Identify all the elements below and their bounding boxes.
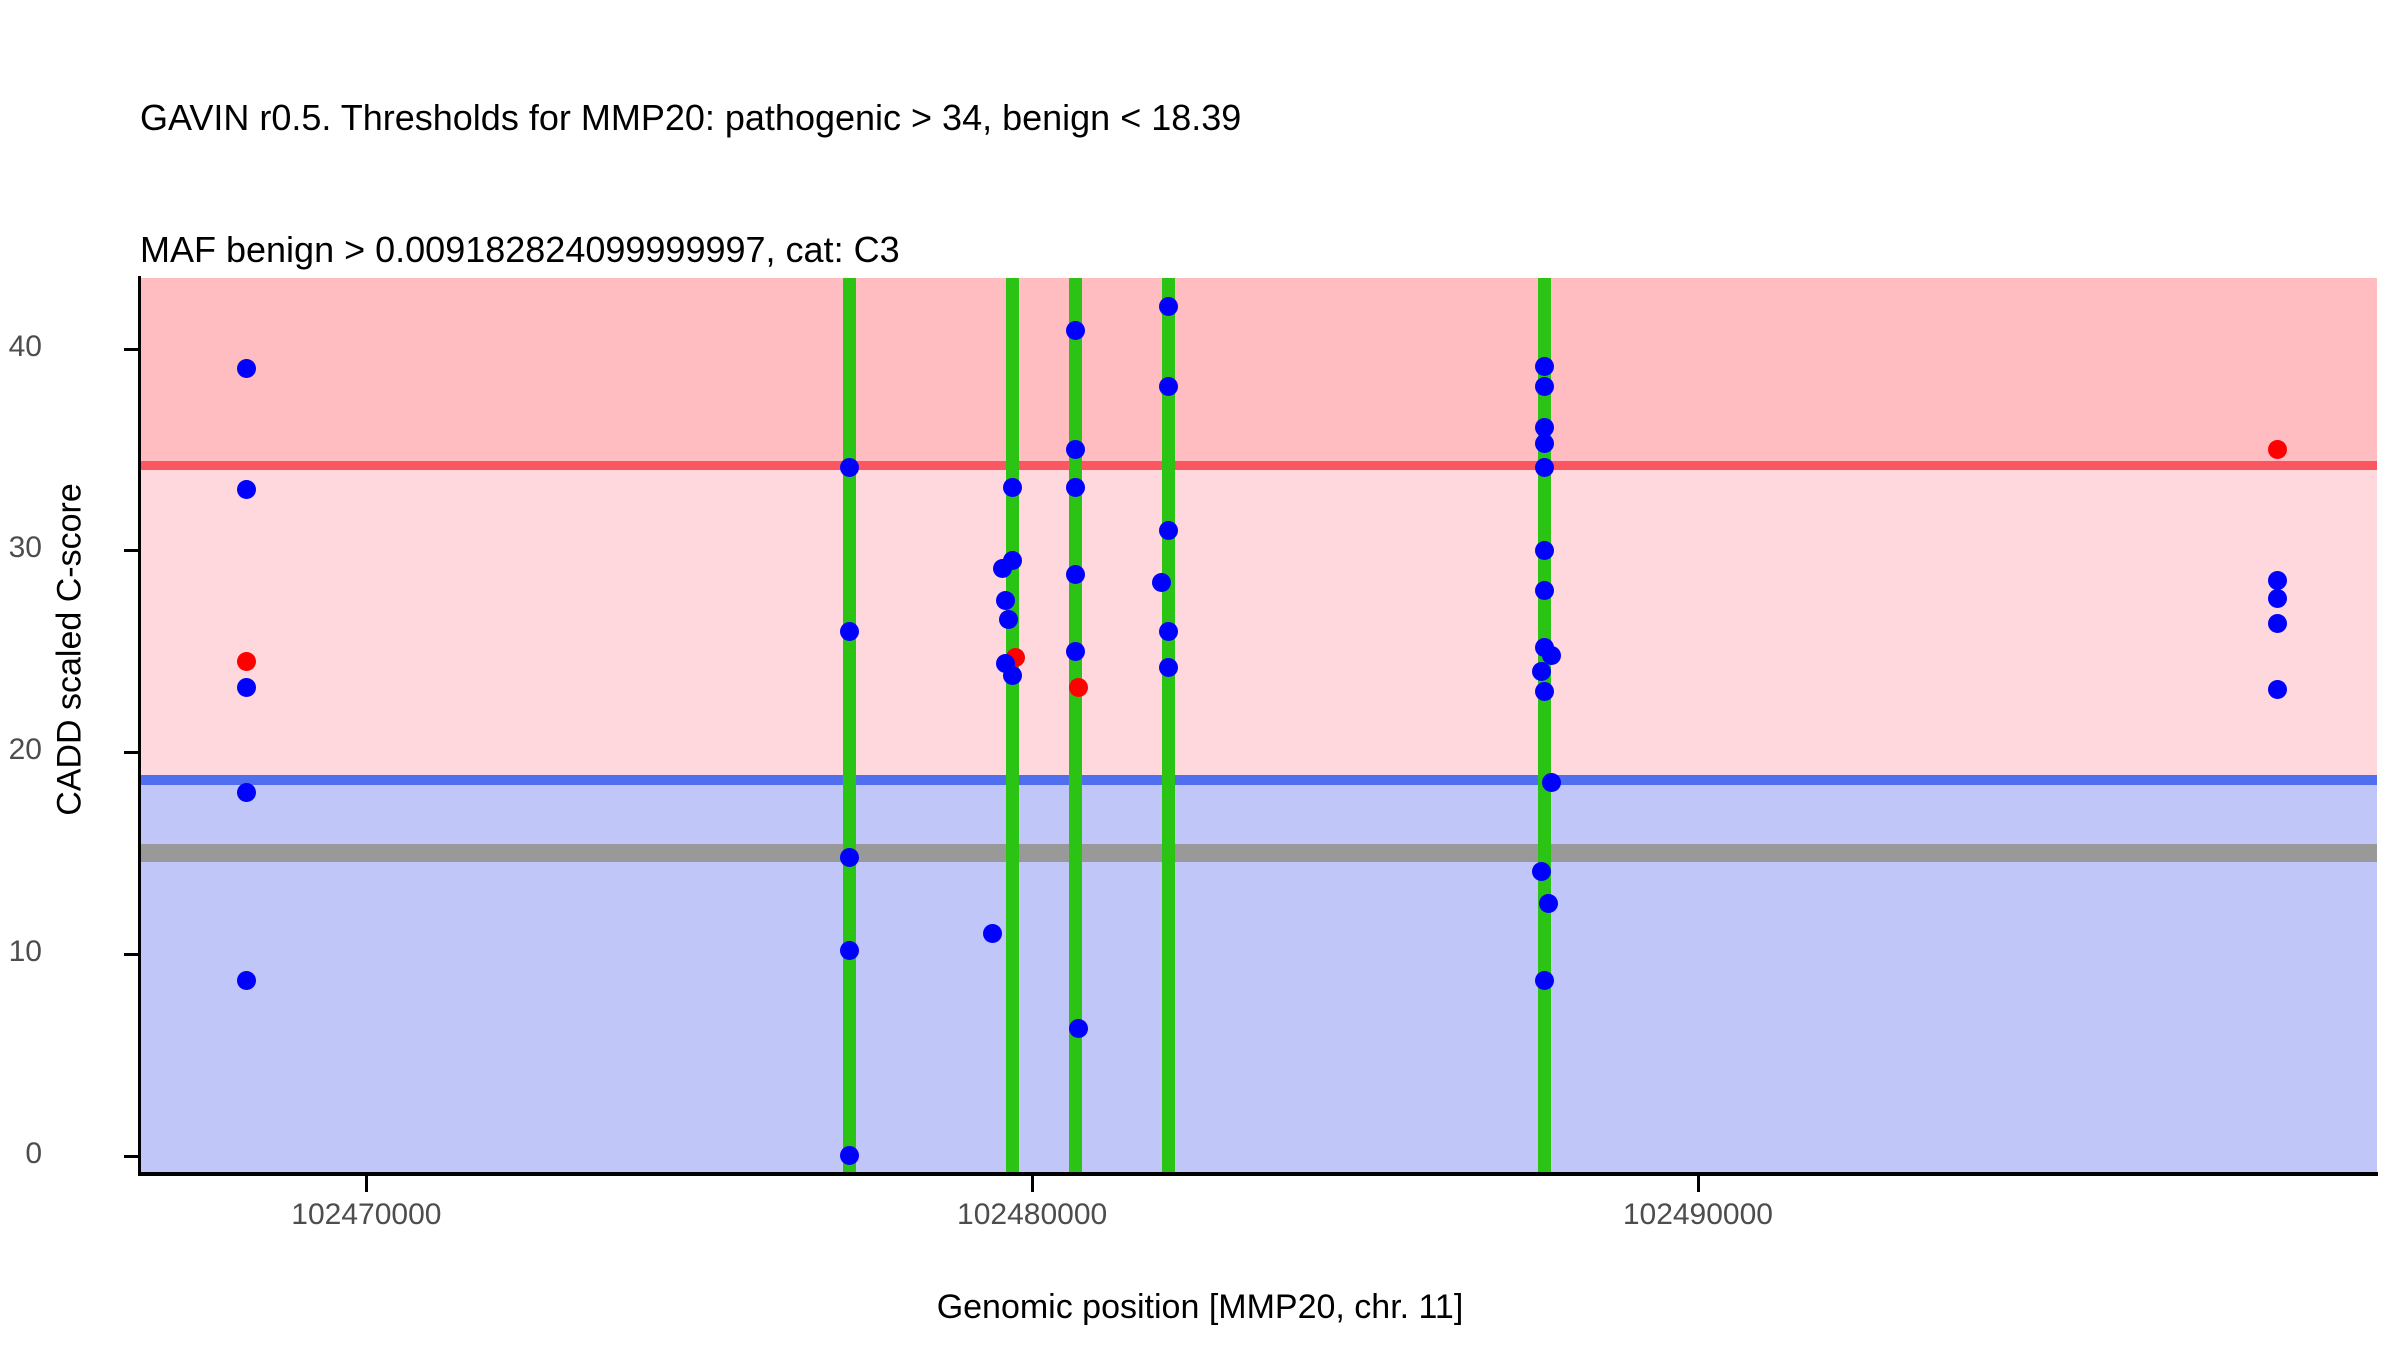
y-axis-label: CADD scaled C-score [51, 250, 90, 1050]
exon-line [1069, 278, 1082, 1172]
gnomad-variant-point [1003, 478, 1022, 497]
gnomad-variant-point [999, 610, 1018, 629]
gnomad-variant-point [1535, 971, 1554, 990]
x-axis-tick-label: 102490000 [1623, 1198, 1773, 1232]
gnomad-variant-point [1003, 666, 1022, 685]
y-axis-tick [124, 549, 140, 552]
gnomad-variant-point [1539, 894, 1558, 913]
gnomad-variant-point [2268, 680, 2287, 699]
title-line-1: GAVIN r0.5. Thresholds for MMP20: pathog… [140, 96, 2240, 140]
gnomad-variant-point [840, 941, 859, 960]
exon-line [843, 278, 856, 1172]
x-axis-label: Genomic position [MMP20, chr. 11] [0, 1288, 2400, 1327]
gnomad-variant-point [2268, 614, 2287, 633]
plot-panel [140, 278, 2377, 1172]
clinvar-variant-point [237, 652, 256, 671]
x-axis-line [138, 1172, 2378, 1176]
gnomad-variant-point [983, 924, 1002, 943]
title-line-2: MAF benign > 0.009182824099999997, cat: … [140, 228, 2240, 272]
y-axis-tick [124, 348, 140, 351]
band-pathogenic [140, 278, 2377, 470]
y-axis-tick-label: 30 [9, 531, 42, 565]
gnomad-variant-point [1159, 297, 1178, 316]
y-axis-tick [124, 751, 140, 754]
gnomad-variant-point [1159, 521, 1178, 540]
gnomad-variant-point [1159, 658, 1178, 677]
gnomad-variant-point [840, 848, 859, 867]
gnomad-variant-point [237, 783, 256, 802]
exon-line [1006, 278, 1019, 1172]
gnomad-variant-point [1542, 773, 1561, 792]
x-axis-tick-label: 102470000 [291, 1198, 441, 1232]
gnomad-variant-point [1532, 662, 1551, 681]
clinvar-variant-point [2268, 440, 2287, 459]
gnomad-variant-point [1066, 321, 1085, 340]
y-axis-tick-label: 0 [25, 1137, 42, 1171]
y-axis-tick-label: 10 [9, 935, 42, 969]
y-axis-tick [124, 953, 140, 956]
gnomad-variant-point [1066, 565, 1085, 584]
x-axis-tick [365, 1176, 368, 1192]
band-fallback-threshold-line [140, 844, 2377, 862]
x-axis-tick-label: 102480000 [957, 1198, 1107, 1232]
exon-line [1538, 278, 1551, 1172]
band-benign [140, 785, 2377, 1172]
x-axis-tick [1031, 1176, 1034, 1192]
exon-line [1162, 278, 1175, 1172]
y-axis-tick-label: 40 [9, 330, 42, 364]
gnomad-variant-point [2268, 589, 2287, 608]
y-axis-tick-label: 20 [9, 733, 42, 767]
band-vous [140, 470, 2377, 785]
gnomad-variant-point [2268, 571, 2287, 590]
y-axis-line [138, 276, 141, 1174]
chart-root: GAVIN r0.5. Thresholds for MMP20: pathog… [0, 0, 2400, 1350]
y-axis-tick [124, 1155, 140, 1158]
gnomad-variant-point [840, 1146, 859, 1165]
gnomad-variant-point [237, 971, 256, 990]
x-axis-tick [1697, 1176, 1700, 1192]
gnomad-variant-point [1066, 440, 1085, 459]
gnomad-variant-point [993, 559, 1012, 578]
gnomad-variant-point [1066, 642, 1085, 661]
gnomad-variant-point [840, 622, 859, 641]
gnomad-variant-point [840, 458, 859, 477]
gnomad-variant-point [1159, 622, 1178, 641]
gnomad-variant-point [1532, 862, 1551, 881]
